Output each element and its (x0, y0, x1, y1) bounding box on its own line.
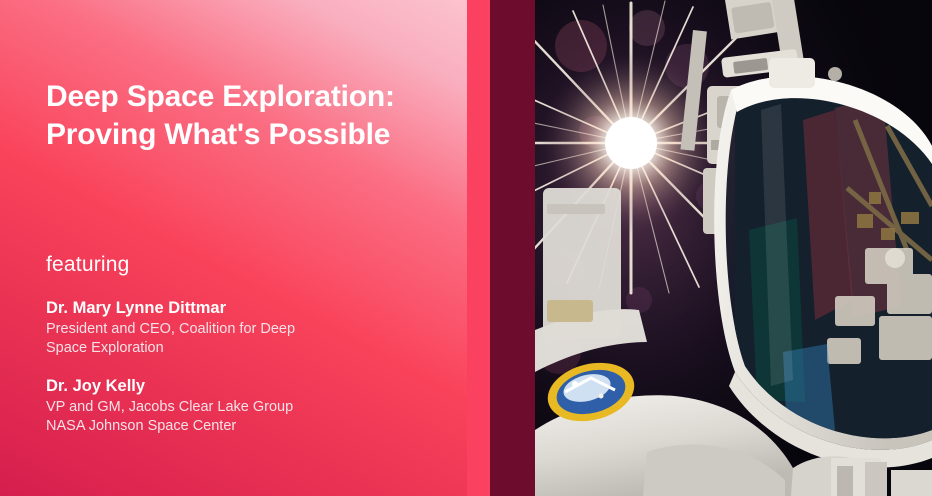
speaker-role: President and CEO, Coalition for Deep Sp… (46, 320, 446, 358)
accent-band-maroon (490, 0, 535, 496)
astronaut-helmet (714, 58, 932, 468)
slide-title: Deep Space Exploration: Proving What's P… (46, 78, 466, 154)
speaker-name: Dr. Joy Kelly (46, 375, 446, 397)
spacewalk-photo-graphic (535, 0, 932, 496)
presentation-slide: Deep Space Exploration: Proving What's P… (0, 0, 932, 496)
speaker-name: Dr. Mary Lynne Dittmar (46, 297, 446, 319)
speaker-entry: Dr. Mary Lynne Dittmar President and CEO… (46, 297, 446, 358)
slide-text-area: Deep Space Exploration: Proving What's P… (0, 0, 467, 496)
speaker-role: VP and GM, Jacobs Clear Lake Group NASA … (46, 398, 446, 436)
spacewalk-photo (535, 0, 932, 496)
title-line-secondary: Proving What's Possible (46, 116, 466, 154)
visor-reflection (735, 90, 932, 440)
speaker-entry: Dr. Joy Kelly VP and GM, Jacobs Clear La… (46, 375, 446, 436)
featuring-label: featuring (46, 253, 130, 277)
title-line-primary: Deep Space Exploration: (46, 78, 466, 116)
accent-band-bright (467, 0, 490, 496)
